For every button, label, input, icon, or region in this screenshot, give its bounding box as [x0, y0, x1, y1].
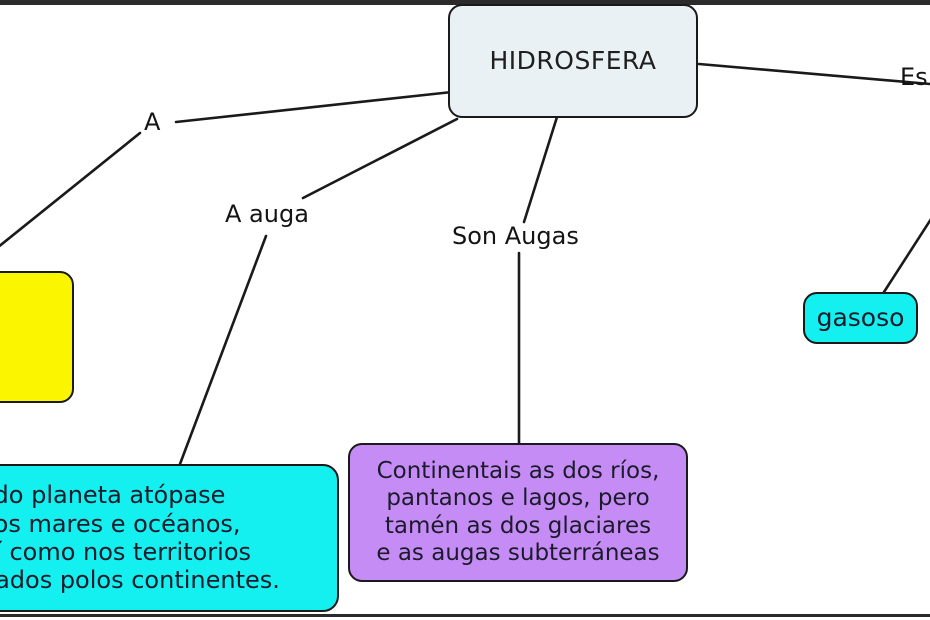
edge-root-to-es [699, 64, 930, 84]
node-yellow-clipped[interactable]: a eta, cibe [0, 271, 74, 403]
edge-root-to-a [176, 92, 452, 122]
node-oceans-territories[interactable]: do planeta atópase nos mares e océanos, … [0, 464, 339, 612]
edge-a-auga-to-cyan [180, 236, 266, 464]
edge-label-a: A [144, 108, 160, 136]
edge-root-to-a-auga [303, 119, 457, 198]
bottom-border-rule [0, 614, 930, 617]
concept-map-canvas: HIDROSFERA a eta, cibe do planeta atópas… [0, 0, 930, 620]
edge-label-es-clipped: Es [900, 63, 928, 91]
edge-label-a-auga: A auga [225, 200, 309, 228]
edge-es-to-gasoso [884, 216, 930, 292]
edge-label-son-augas: Son Augas [452, 222, 579, 250]
node-gasoso[interactable]: gasoso [803, 292, 918, 344]
node-hidrosfera[interactable]: HIDROSFERA [448, 4, 698, 118]
edge-a-to-yellow [0, 133, 140, 252]
node-continental-waters[interactable]: Continentais as dos ríos, pantanos e lag… [348, 443, 688, 582]
edge-root-to-son-augas [524, 117, 557, 222]
